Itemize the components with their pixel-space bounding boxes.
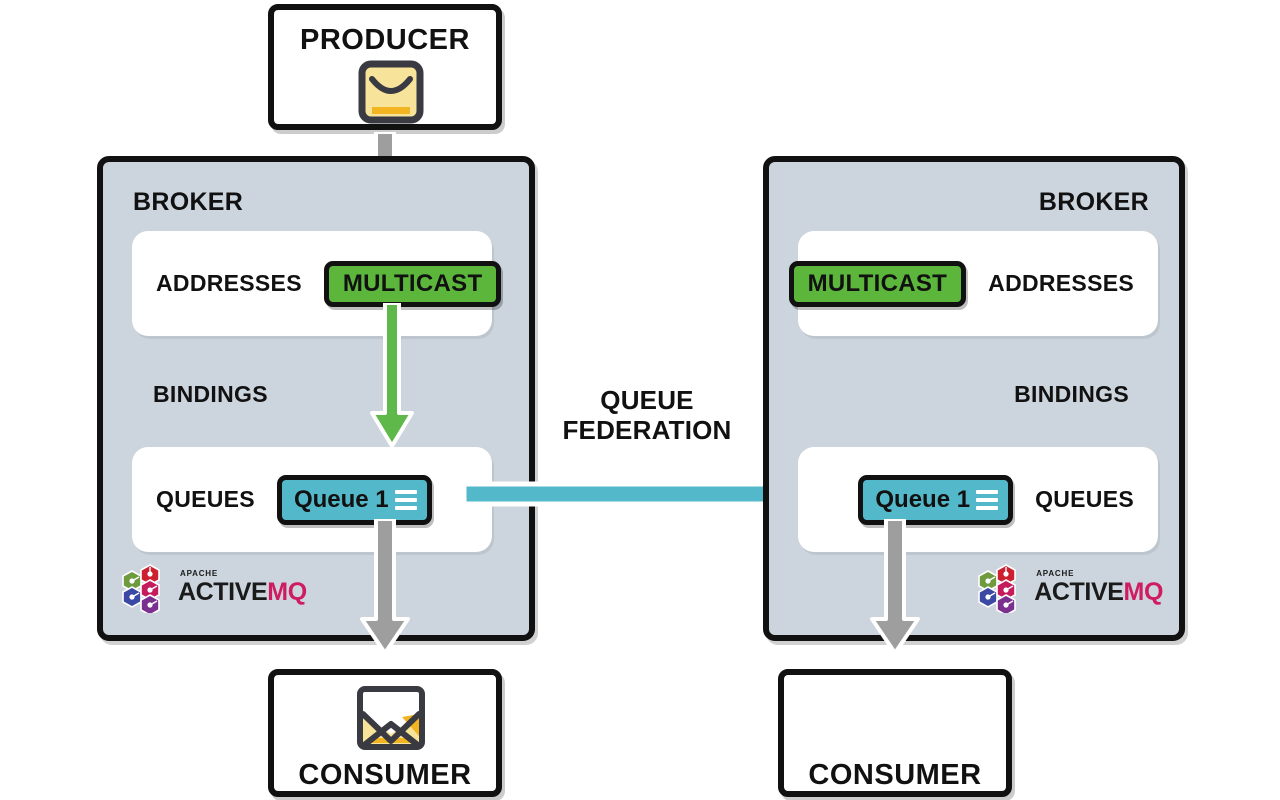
- activemq-text-left: ACTIVEMQ: [178, 580, 307, 605]
- arrow-queue-to-consumer-left: [359, 519, 411, 656]
- addresses-label-left: ADDRESSES: [156, 270, 302, 297]
- consumer-label-left: CONSUMER: [274, 759, 496, 792]
- multicast-chip-left[interactable]: MULTICAST: [324, 261, 502, 307]
- broker-box-left[interactable]: BROKER ADDRESSES MULTICAST BINDINGS QUEU…: [97, 156, 535, 641]
- arrow-multicast-to-queue-left: [369, 303, 415, 450]
- federation-line-1: QUEUE: [533, 385, 761, 415]
- producer-label: PRODUCER: [274, 24, 496, 57]
- addresses-panel-right[interactable]: MULTICAST ADDRESSES: [798, 231, 1158, 336]
- open-envelope-icon: [355, 684, 427, 754]
- queue-chip-left[interactable]: Queue 1: [277, 475, 432, 525]
- activemq-hexagons-icon: [975, 561, 1027, 613]
- activemq-logo-left: APACHE ACTIVEMQ: [119, 561, 307, 613]
- broker-box-right[interactable]: BROKER MULTICAST ADDRESSES BINDINGS Queu…: [763, 156, 1185, 641]
- activemq-logo-right: APACHE ACTIVEMQ: [975, 561, 1163, 613]
- activemq-hexagons-icon: [119, 561, 171, 613]
- queue-lines-icon-left: [395, 490, 417, 510]
- queue-chip-label-left: Queue 1: [294, 486, 389, 514]
- broker-label-left: BROKER: [133, 188, 243, 217]
- active-text-left: ACTIVE: [178, 578, 267, 606]
- federation-line-2: FEDERATION: [533, 415, 761, 445]
- arrow-queue-to-consumer-right: [869, 519, 921, 656]
- queue-lines-icon-right: [976, 490, 998, 510]
- mq-text-right: MQ: [1124, 578, 1163, 606]
- activemq-wordmark-left: APACHE ACTIVEMQ: [178, 570, 307, 605]
- queues-label-right: QUEUES: [1035, 486, 1134, 513]
- multicast-chip-right[interactable]: MULTICAST: [789, 261, 967, 307]
- queue-federation-label: QUEUE FEDERATION: [533, 385, 761, 445]
- apache-text-left: APACHE: [180, 570, 307, 578]
- queues-panel-left[interactable]: QUEUES Queue 1: [132, 447, 492, 552]
- mq-text-left: MQ: [267, 578, 306, 606]
- consumer-box-left[interactable]: CONSUMER: [268, 669, 502, 797]
- producer-box[interactable]: PRODUCER: [268, 4, 502, 130]
- bindings-label-left: BINDINGS: [153, 381, 268, 408]
- addresses-label-right: ADDRESSES: [988, 270, 1134, 297]
- active-text-right: ACTIVE: [1034, 578, 1123, 606]
- closed-envelope-icon: [358, 60, 424, 124]
- queue-chip-right[interactable]: Queue 1: [858, 475, 1013, 525]
- queues-panel-right[interactable]: Queue 1 QUEUES: [798, 447, 1158, 552]
- queue-chip-label-right: Queue 1: [875, 486, 970, 514]
- activemq-wordmark-right: APACHE ACTIVEMQ: [1034, 570, 1163, 605]
- consumer-label-right: CONSUMER: [784, 759, 1006, 792]
- queues-label-left: QUEUES: [156, 486, 255, 513]
- broker-label-right: BROKER: [1039, 188, 1149, 217]
- consumer-box-right[interactable]: CONSUMER: [778, 669, 1012, 797]
- addresses-panel-left[interactable]: ADDRESSES MULTICAST: [132, 231, 492, 336]
- bindings-label-right: BINDINGS: [1014, 381, 1129, 408]
- activemq-text-right: ACTIVEMQ: [1034, 580, 1163, 605]
- diagram-canvas: PRODUCER BROKER ADDRESSES MULTICAST BIND…: [0, 0, 1280, 800]
- apache-text-right: APACHE: [1036, 570, 1163, 578]
